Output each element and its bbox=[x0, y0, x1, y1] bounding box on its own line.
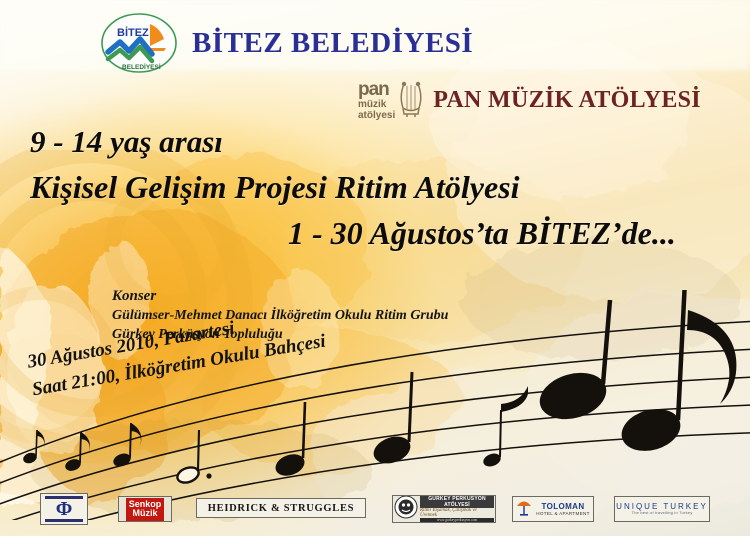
sponsor-senkop-line-2: Müzik bbox=[132, 509, 157, 519]
sponsor-unique-line-2: The best of travelling in Turkey bbox=[632, 511, 693, 516]
sponsor-toloman-line-1: TOLOMAN bbox=[541, 502, 584, 511]
sponsor-toloman-hotel: TOLOMAN HOTEL & APARTMENT bbox=[512, 496, 594, 522]
sponsor-gurkey-line-1: GÜRKEY PERKÜSYON ATÖLYESİ bbox=[420, 496, 494, 508]
sponsor-gurkey-emblem-icon bbox=[394, 495, 418, 523]
sponsor-monogram: Φ bbox=[40, 493, 88, 525]
bitez-belediyesi-logo: BİTEZ BELEDİYESİ bbox=[100, 12, 178, 74]
eighth-note-xl bbox=[617, 290, 687, 457]
quarter-note-large bbox=[370, 372, 414, 468]
concert-label: Konser bbox=[112, 288, 448, 305]
sponsor-unique-turkey: UNIQUE TURKEY The best of travelling in … bbox=[614, 496, 710, 522]
quarter-note-xl bbox=[534, 300, 611, 427]
municipality-title: BİTEZ BELEDİYESİ bbox=[192, 27, 473, 60]
sponsor-toloman-line-2: HOTEL & APARTMENT bbox=[536, 511, 590, 516]
sponsor-strip: Φ Senkop Müzik HEIDRICK & STRUGGLES bbox=[0, 492, 750, 532]
partner-title: PAN MÜZİK ATÖLYESİ bbox=[433, 87, 701, 114]
sponsor-heidrick-struggles: HEIDRICK & STRUGGLES bbox=[196, 498, 366, 518]
event-poster: BİTEZ BELEDİYESİ BİTEZ BELEDİYESİ pan mü… bbox=[0, 0, 750, 536]
sponsor-gurkey-line-3: www.gurkeyperkusyon.com bbox=[420, 518, 494, 522]
svg-text:BELEDİYESİ: BELEDİYESİ bbox=[122, 63, 161, 71]
sponsor-gurkey-line-2: Ritmi Yaşamak, Çalışmak ve Üretmek bbox=[420, 508, 494, 518]
quarter-note-mid bbox=[272, 402, 307, 480]
headline-line-2: Kişisel Gelişim Projesi Ritim Atölyesi bbox=[30, 169, 750, 206]
quarter-note-dotted bbox=[175, 430, 211, 485]
lyre-icon bbox=[398, 78, 424, 123]
eighth-note-flag bbox=[640, 300, 750, 420]
sponsor-monogram-glyph: Φ bbox=[56, 499, 73, 519]
sponsor-senkop-muzik: Senkop Müzik bbox=[118, 496, 172, 522]
headline-line-1: 9 - 14 yaş arası bbox=[30, 124, 750, 160]
beamed-eighth-note-pair bbox=[481, 386, 528, 469]
svg-text:BİTEZ: BİTEZ bbox=[117, 26, 149, 39]
eighth-note-small-2 bbox=[64, 432, 90, 473]
headline-line-3: 1 - 30 Ağustos’ta BİTEZ’de... bbox=[288, 215, 750, 252]
sponsor-monogram-bar-bottom bbox=[45, 519, 84, 522]
pan-logo-word-pan: pan bbox=[358, 80, 389, 99]
eighth-note-small-3 bbox=[111, 423, 141, 469]
sponsor-toloman-parasol-icon bbox=[516, 498, 532, 521]
sponsor-heidrick-label: HEIDRICK & STRUGGLES bbox=[208, 503, 354, 514]
sponsor-senkop-muzik-mark: Senkop Müzik bbox=[126, 498, 165, 521]
pan-muzik-atolyesi-logo: pan müzik atölyesi bbox=[358, 78, 424, 123]
partner-header: pan müzik atölyesi bbox=[358, 78, 701, 123]
pan-logo-word-atolyesi: atölyesi bbox=[358, 111, 395, 121]
sponsor-gurkey-perkusyon-atolyesi: GÜRKEY PERKÜSYON ATÖLYESİ Ritmi Yaşamak,… bbox=[392, 495, 496, 523]
headline-block: 9 - 14 yaş arası Kişisel Gelişim Projesi… bbox=[0, 124, 750, 252]
pan-logo-word-muzik: müzik bbox=[358, 100, 386, 110]
eighth-note-small-1 bbox=[22, 430, 45, 465]
municipality-header: BİTEZ BELEDİYESİ BİTEZ BELEDİYESİ bbox=[100, 12, 473, 74]
